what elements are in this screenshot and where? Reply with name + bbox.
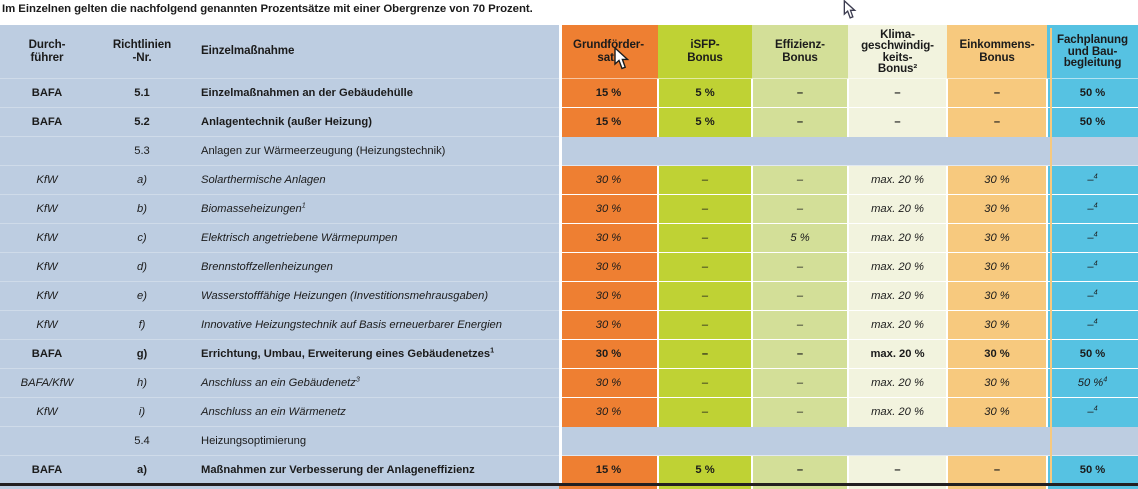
footnote-marker: 4 [1094, 404, 1098, 413]
cell-einzelmassnahme: Solarthermische Anlagen [190, 166, 559, 195]
cell-value: – [797, 174, 803, 186]
cell-value-einkommens-bonus: – [947, 456, 1047, 485]
cell-richtlinien-nr: e) [94, 282, 190, 311]
cell-value: 30 % [984, 377, 1010, 389]
cell-value-klima-bonus: max. 20 % [848, 282, 947, 311]
cell-richtlinien-nr: 5.4 [94, 427, 190, 456]
cell-einzelmassnahme: Brennstoffzellenheizungen [190, 253, 559, 282]
measure-label: Anlagen zur Wärmeerzeugung (Heizungstech… [201, 145, 445, 157]
measure-label: Brennstoffzellenheizungen [201, 261, 333, 273]
cell-value-grundfoerdersatz: 30 % [559, 195, 658, 224]
cell-durchfuehrer: KfW [0, 311, 94, 340]
measure-label: Elektrisch angetriebene Wärmepumpen [201, 232, 398, 244]
cell-value: – [797, 406, 803, 418]
cell-value: max. 20 % [871, 377, 924, 389]
cell-value: 30 % [984, 319, 1010, 331]
cell-value-effizienz-bonus: – [752, 369, 848, 398]
header-effizienz-bonus: Effizienz- Bonus [752, 25, 848, 79]
cell-value-grundfoerdersatz: 30 % [559, 398, 658, 427]
cell-value-effizienz-bonus: 5 % [752, 224, 848, 253]
cell-value: 30 % [984, 348, 1010, 360]
cell-value: max. 20 % [871, 232, 924, 244]
cell-value: – [797, 319, 803, 331]
cell-value-fachplanung: 50 % [1047, 79, 1138, 108]
footnote-marker: 4 [1094, 200, 1098, 209]
table-body: BAFA5.1Einzelmaßnahmen an der Gebäudehül… [0, 79, 1138, 489]
cell-value-fachplanung: 50 % [1047, 340, 1138, 369]
header-line: Richtlinien [94, 39, 190, 51]
cell-value: – [702, 261, 708, 273]
cell-value: – [702, 203, 708, 215]
cell-value-klima-bonus: – [848, 79, 947, 108]
cell-value-grundfoerdersatz: 30 % [559, 340, 658, 369]
cell-einzelmassnahme: Anschluss an ein Gebäudenetz3 [190, 369, 559, 398]
footnote-marker: 4 [1094, 171, 1098, 180]
cell-value: 30 % [596, 406, 622, 418]
cell-value-klima-bonus: max. 20 % [848, 195, 947, 224]
header-line: Grundförder- [559, 39, 658, 51]
header-line: Bonus [947, 52, 1047, 64]
cell-richtlinien-nr: c) [94, 224, 190, 253]
cell-value-isfp-bonus: – [658, 340, 752, 369]
cell-richtlinien-nr: a) [94, 166, 190, 195]
header-line: Fachplanung [1047, 34, 1138, 46]
cell-value: – [797, 87, 803, 99]
cell-value-isfp-bonus: – [658, 166, 752, 195]
cell-value-grundfoerdersatz: 15 % [559, 108, 658, 137]
cell-value-effizienz-bonus: – [752, 253, 848, 282]
cell-value-fachplanung: 50 %4 [1047, 369, 1138, 398]
cell-value: max. 20 % [871, 290, 924, 302]
measure-label: Anschluss an ein Wärmenetz [201, 406, 346, 418]
cell-value-effizienz-bonus: – [752, 398, 848, 427]
header-row: Durch- führer Richtlinien -Nr. Einzelmaß… [0, 25, 1138, 79]
cell-value: 30 % [596, 174, 622, 186]
cell-value-einkommens-bonus: 30 % [947, 195, 1047, 224]
header-durchfuehrer: Durch- führer [0, 25, 94, 79]
cell-value-einkommens-bonus: 30 % [947, 340, 1047, 369]
cell-value-fachplanung: –4 [1047, 224, 1138, 253]
header-line: Bonus² [848, 63, 947, 74]
cell-value: 30 % [984, 261, 1010, 273]
cell-value: 5 % [695, 87, 714, 99]
cell-richtlinien-nr: f) [94, 311, 190, 340]
header-line: begleitung [1047, 57, 1138, 69]
cell-richtlinien-nr: b) [94, 195, 190, 224]
cell-value-effizienz-bonus: – [752, 456, 848, 485]
cell-value: 50 % [1080, 116, 1106, 128]
cell-value: – [797, 464, 803, 476]
cell-value-einkommens-bonus: 30 % [947, 398, 1047, 427]
cell-richtlinien-nr: 5.3 [94, 137, 190, 166]
header-isfp-bonus: iSFP- Bonus [658, 25, 752, 79]
footnote-marker: 3 [356, 374, 360, 383]
cell-value-klima-bonus: – [848, 456, 947, 485]
table-bottom-rule [0, 483, 1138, 486]
footnote-marker: 1 [302, 200, 306, 209]
cell-value-fachplanung: –4 [1047, 398, 1138, 427]
measure-label: Anschluss an ein Gebäudenetz [201, 377, 356, 389]
cell-richtlinien-nr: 5.2 [94, 108, 190, 137]
cell-value-klima-bonus: max. 20 % [848, 340, 947, 369]
table-row: BAFA5.2Anlagentechnik (außer Heizung)15 … [0, 108, 1138, 137]
cell-value-grundfoerdersatz: 15 % [559, 456, 658, 485]
cell-durchfuehrer: KfW [0, 195, 94, 224]
footnote-marker: 1 [490, 345, 494, 354]
cell-value: 30 % [984, 232, 1010, 244]
cell-value-isfp-bonus: 5 % [658, 456, 752, 485]
header-fachplanung: Fachplanung und Bau- begleitung [1047, 25, 1138, 79]
cell-value-grundfoerdersatz: 30 % [559, 369, 658, 398]
cell-value: – [994, 87, 1000, 99]
cell-value-effizienz-bonus: – [752, 166, 848, 195]
cell-value-fachplanung: –4 [1047, 195, 1138, 224]
cell-value: 30 % [984, 290, 1010, 302]
cell-value-fachplanung: –4 [1047, 282, 1138, 311]
cell-value-klima-bonus: max. 20 % [848, 253, 947, 282]
cell-value-isfp-bonus: – [658, 195, 752, 224]
cell-value-isfp-bonus: – [658, 398, 752, 427]
header-line: Bonus [752, 52, 848, 64]
cell-value: – [894, 464, 900, 476]
header-line: -Nr. [94, 52, 190, 64]
header-grundfoerdersatz: Grundförder- satz [559, 25, 658, 79]
cell-value: 30 % [596, 348, 622, 360]
cell-durchfuehrer: KfW [0, 166, 94, 195]
cell-durchfuehrer: BAFA [0, 79, 94, 108]
table-header: Durch- führer Richtlinien -Nr. Einzelmaß… [0, 25, 1138, 79]
column-gutter [559, 25, 562, 483]
cell-value-isfp-bonus: – [658, 369, 752, 398]
cell-value: 30 % [984, 203, 1010, 215]
header-line: Einzelmaßnahme [201, 45, 559, 57]
cell-richtlinien-nr: h) [94, 369, 190, 398]
cell-durchfuehrer: BAFA [0, 340, 94, 369]
cell-durchfuehrer: KfW [0, 253, 94, 282]
table-row: KfWe)Wasserstofffähige Heizungen (Invest… [0, 282, 1138, 311]
measure-label: Innovative Heizungstechnik auf Basis ern… [201, 319, 502, 331]
header-einzelmassnahme: Einzelmaßnahme [190, 25, 559, 79]
header-line: Durch- [0, 39, 94, 51]
cell-value-effizienz-bonus: – [752, 108, 848, 137]
cell-value: 15 % [596, 464, 622, 476]
cell-value-fachplanung: 50 % [1047, 456, 1138, 485]
cell-value-klima-bonus: max. 20 % [848, 369, 947, 398]
cell-einzelmassnahme: Elektrisch angetriebene Wärmepumpen [190, 224, 559, 253]
header-line: satz [559, 52, 658, 64]
cell-value: – [994, 116, 1000, 128]
cell-value-einkommens-bonus: 30 % [947, 253, 1047, 282]
header-richtlinien-nr: Richtlinien -Nr. [94, 25, 190, 79]
cell-value: – [702, 348, 708, 360]
cell-value: 30 % [596, 232, 622, 244]
cell-value-grundfoerdersatz: 30 % [559, 311, 658, 340]
header-line: iSFP- [658, 39, 752, 51]
cell-einzelmassnahme: Einzelmaßnahmen an der Gebäudehülle [190, 79, 559, 108]
cell-einzelmassnahme: Anschluss an ein Wärmenetz [190, 398, 559, 427]
cell-value: 50 % [1078, 377, 1104, 389]
footnote-marker: 4 [1103, 374, 1107, 383]
cell-durchfuehrer: KfW [0, 224, 94, 253]
measure-label: Wasserstofffähige Heizungen (Investition… [201, 290, 488, 302]
cell-richtlinien-nr: i) [94, 398, 190, 427]
cell-value-effizienz-bonus: – [752, 195, 848, 224]
cell-value-grundfoerdersatz: 30 % [559, 282, 658, 311]
cell-value: – [702, 377, 708, 389]
cell-value: max. 20 % [871, 174, 924, 186]
cell-einzelmassnahme: Maßnahmen zur Verbesserung der Anlagenef… [190, 456, 559, 485]
table-row: BAFAg)Errichtung, Umbau, Erweiterung ein… [0, 340, 1138, 369]
table-row: KfWf)Innovative Heizungstechnik auf Basi… [0, 311, 1138, 340]
cell-value: – [797, 261, 803, 273]
header-line: geschwindig- [848, 40, 947, 51]
header-line: Effizienz- [752, 39, 848, 51]
cell-durchfuehrer: BAFA [0, 456, 94, 485]
cell-value: – [702, 319, 708, 331]
cell-value: max. 20 % [870, 348, 924, 360]
cell-value: 50 % [1080, 464, 1106, 476]
cell-value: 30 % [596, 319, 622, 331]
cell-value-einkommens-bonus: 30 % [947, 224, 1047, 253]
header-line: führer [0, 52, 94, 64]
cell-einzelmassnahme: Wasserstofffähige Heizungen (Investition… [190, 282, 559, 311]
cell-durchfuehrer: BAFA [0, 108, 94, 137]
cell-value-klima-bonus: max. 20 % [848, 166, 947, 195]
table-row: KfWb)Biomasseheizungen130 %––max. 20 %30… [0, 195, 1138, 224]
table-group-row: 5.3Anlagen zur Wärmeerzeugung (Heizungst… [0, 137, 1138, 166]
funding-table-wrapper: Durch- führer Richtlinien -Nr. Einzelmaß… [0, 25, 1138, 486]
measure-label: Maßnahmen zur Verbesserung der Anlagenef… [201, 464, 475, 476]
cell-value: 30 % [596, 290, 622, 302]
cell-value-grundfoerdersatz: 15 % [559, 79, 658, 108]
cell-value-einkommens-bonus: 30 % [947, 166, 1047, 195]
measure-label: Solarthermische Anlagen [201, 174, 326, 186]
measure-label: Errichtung, Umbau, Erweiterung eines Geb… [201, 348, 490, 360]
table-row: BAFA/KfWh)Anschluss an ein Gebäudenetz33… [0, 369, 1138, 398]
cell-richtlinien-nr: a) [94, 456, 190, 485]
cell-einzelmassnahme: Heizungsoptimierung [190, 427, 559, 456]
footnote-marker: 4 [1094, 287, 1098, 296]
cell-value: – [702, 290, 708, 302]
table-row: KfWd)Brennstoffzellenheizungen30 %––max.… [0, 253, 1138, 282]
cell-value-isfp-bonus: 5 % [658, 108, 752, 137]
header-line: Einkommens- [947, 39, 1047, 51]
cell-value: 15 % [596, 116, 622, 128]
cell-einzelmassnahme: Innovative Heizungstechnik auf Basis ern… [190, 311, 559, 340]
cell-value-klima-bonus: max. 20 % [848, 224, 947, 253]
cell-value: – [797, 348, 803, 360]
funding-rates-table: Durch- führer Richtlinien -Nr. Einzelmaß… [0, 25, 1138, 489]
cell-value: – [797, 203, 803, 215]
table-row: KfWi)Anschluss an ein Wärmenetz30 %––max… [0, 398, 1138, 427]
cell-value: – [894, 87, 900, 99]
measure-label: Biomasseheizungen [201, 203, 302, 215]
cell-richtlinien-nr: d) [94, 253, 190, 282]
measure-label: Heizungsoptimierung [201, 435, 306, 447]
cell-value: 30 % [984, 406, 1010, 418]
cell-value: – [797, 377, 803, 389]
cell-durchfuehrer: KfW [0, 398, 94, 427]
cell-value-einkommens-bonus: 30 % [947, 369, 1047, 398]
fachplanung-edge [1050, 28, 1052, 483]
cell-value: 30 % [596, 377, 622, 389]
header-einkommens-bonus: Einkommens- Bonus [947, 25, 1047, 79]
measure-label: Einzelmaßnahmen an der Gebäudehülle [201, 87, 413, 99]
cell-value-isfp-bonus: – [658, 224, 752, 253]
cell-value: 5 % [790, 232, 809, 244]
cell-value-grundfoerdersatz: 30 % [559, 224, 658, 253]
measure-label: Anlagentechnik (außer Heizung) [201, 116, 372, 128]
cell-value: – [797, 116, 803, 128]
cell-value-einkommens-bonus: 30 % [947, 282, 1047, 311]
cell-durchfuehrer [0, 137, 94, 166]
cell-value: – [702, 406, 708, 418]
header-klima-bonus: Klima- geschwindig- keits- Bonus² [848, 25, 947, 79]
cell-value: 5 % [695, 116, 714, 128]
footnote-marker: 4 [1094, 229, 1098, 238]
cell-value-fachplanung: –4 [1047, 253, 1138, 282]
cell-value-effizienz-bonus: – [752, 282, 848, 311]
cell-richtlinien-nr: g) [94, 340, 190, 369]
cell-value: 30 % [596, 261, 622, 273]
page-root: Im Einzelnen gelten die nachfolgend gena… [0, 0, 1138, 489]
cell-durchfuehrer: BAFA/KfW [0, 369, 94, 398]
cell-value-klima-bonus: max. 20 % [848, 311, 947, 340]
cell-value: max. 20 % [871, 203, 924, 215]
cell-value-effizienz-bonus: – [752, 340, 848, 369]
cell-value-einkommens-bonus: – [947, 108, 1047, 137]
cell-einzelmassnahme: Biomasseheizungen1 [190, 195, 559, 224]
cell-value: 50 % [1080, 87, 1106, 99]
table-group-row: 5.4Heizungsoptimierung [0, 427, 1138, 456]
cell-value: – [702, 232, 708, 244]
cell-value-effizienz-bonus: – [752, 311, 848, 340]
footnote-marker: 4 [1094, 316, 1098, 325]
cell-value: 15 % [596, 87, 622, 99]
cell-value-grundfoerdersatz: 30 % [559, 253, 658, 282]
cell-value: – [797, 290, 803, 302]
table-row: KfWa)Solarthermische Anlagen30 %––max. 2… [0, 166, 1138, 195]
cell-value-klima-bonus: max. 20 % [848, 398, 947, 427]
cell-value: – [702, 174, 708, 186]
table-row: KfWc)Elektrisch angetriebene Wärmepumpen… [0, 224, 1138, 253]
cell-durchfuehrer [0, 427, 94, 456]
cell-einzelmassnahme: Anlagen zur Wärmeerzeugung (Heizungstech… [190, 137, 559, 166]
cell-value-isfp-bonus: – [658, 253, 752, 282]
cell-value: max. 20 % [871, 261, 924, 273]
cell-durchfuehrer: KfW [0, 282, 94, 311]
cell-value: – [994, 464, 1000, 476]
cell-value: 30 % [984, 174, 1010, 186]
cell-value: max. 20 % [871, 319, 924, 331]
cell-value-grundfoerdersatz: 30 % [559, 166, 658, 195]
footnote-marker: 4 [1094, 258, 1098, 267]
cell-value: 50 % [1080, 348, 1106, 360]
cell-value: max. 20 % [871, 406, 924, 418]
cell-value-isfp-bonus: 5 % [658, 79, 752, 108]
header-line: Bonus [658, 52, 752, 64]
cell-value-isfp-bonus: – [658, 311, 752, 340]
cell-value-isfp-bonus: – [658, 282, 752, 311]
cell-value: 5 % [695, 464, 714, 476]
table-row: BAFA5.1Einzelmaßnahmen an der Gebäudehül… [0, 79, 1138, 108]
cell-einzelmassnahme: Anlagentechnik (außer Heizung) [190, 108, 559, 137]
cell-richtlinien-nr: 5.1 [94, 79, 190, 108]
cell-value-effizienz-bonus: – [752, 79, 848, 108]
cell-value-einkommens-bonus: 30 % [947, 311, 1047, 340]
intro-text: Im Einzelnen gelten die nachfolgend gena… [2, 3, 1132, 15]
cell-value-fachplanung: 50 % [1047, 108, 1138, 137]
cell-value-fachplanung: –4 [1047, 311, 1138, 340]
cell-einzelmassnahme: Errichtung, Umbau, Erweiterung eines Geb… [190, 340, 559, 369]
cell-value: 30 % [596, 203, 622, 215]
cell-value-klima-bonus: – [848, 108, 947, 137]
cell-value-fachplanung: –4 [1047, 166, 1138, 195]
cell-value-einkommens-bonus: – [947, 79, 1047, 108]
table-row: BAFAa)Maßnahmen zur Verbesserung der Anl… [0, 456, 1138, 485]
cell-value: – [894, 116, 900, 128]
